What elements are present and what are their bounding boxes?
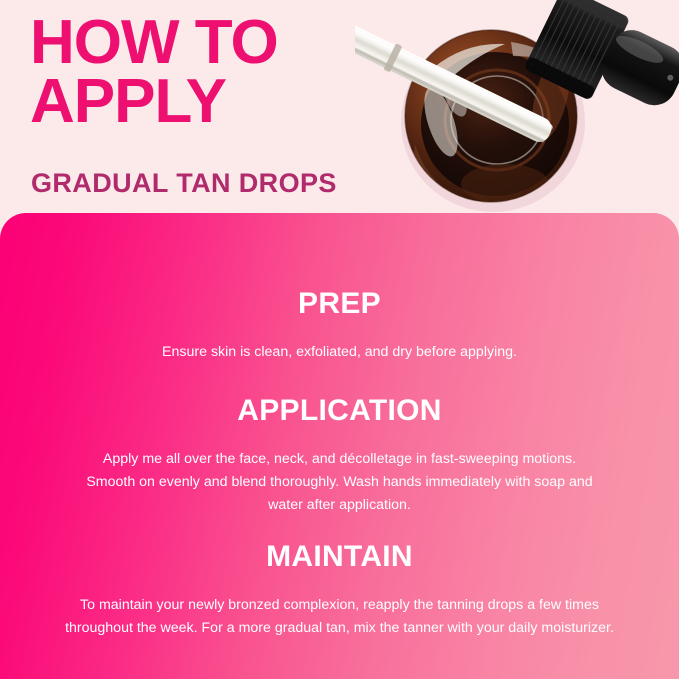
section-body-application: Apply me all over the face, neck, and dé… (0, 448, 679, 517)
section-body-maintain: To maintain your newly bronzed complexio… (0, 594, 679, 640)
dropper-bottle-illustration (355, 0, 679, 226)
page-title: HOW TO APPLY (30, 14, 410, 132)
title-line-1: HOW TO (30, 14, 410, 73)
section-application: APPLICATION Apply me all over the face, … (0, 394, 679, 517)
section-prep: PREP Ensure skin is clean, exfoliated, a… (0, 287, 679, 364)
section-body-prep: Ensure skin is clean, exfoliated, and dr… (0, 341, 679, 364)
instructions-panel: PREP Ensure skin is clean, exfoliated, a… (0, 213, 679, 679)
product-photo-dropper-bottle (355, 0, 679, 226)
section-heading-application: APPLICATION (0, 394, 679, 428)
section-heading-prep: PREP (0, 287, 679, 321)
page-subtitle: GRADUAL TAN DROPS (31, 168, 337, 199)
how-to-apply-poster: HOW TO APPLY GRADUAL TAN DROPS (0, 0, 679, 679)
section-heading-maintain: MAINTAIN (0, 540, 679, 574)
title-line-2: APPLY (30, 73, 410, 132)
section-maintain: MAINTAIN To maintain your newly bronzed … (0, 540, 679, 640)
